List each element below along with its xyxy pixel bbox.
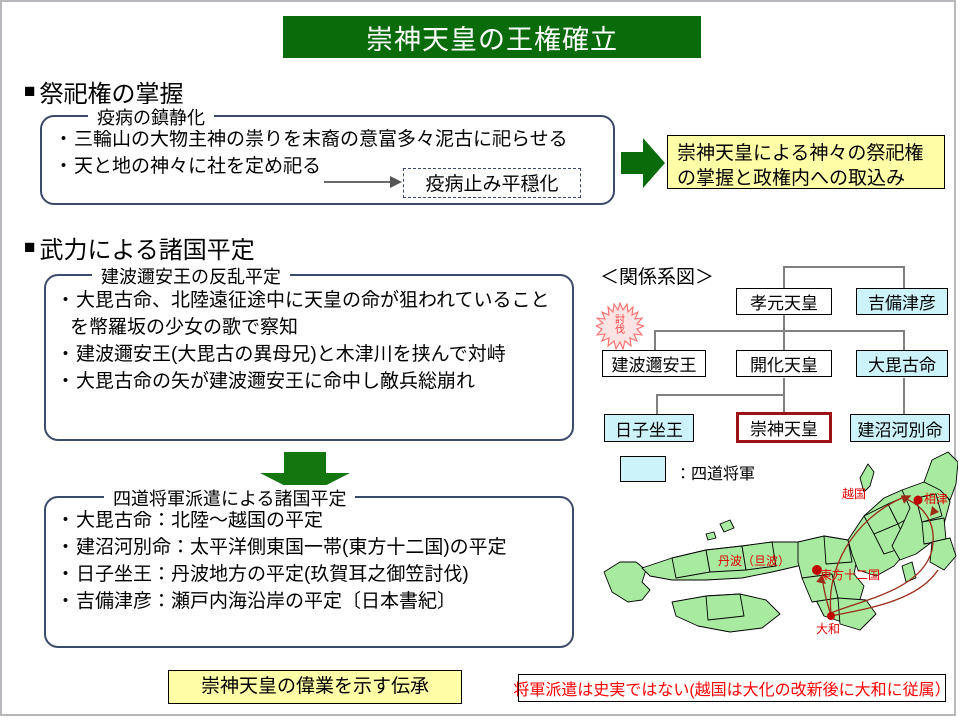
list-item: ・ 建沼河別命：太平洋側東国一帯(東方十二国)の平定: [56, 535, 572, 562]
epidemic-pacification-legend: 疫病の鎮静化: [88, 104, 214, 130]
bullet-dot-icon: ・: [56, 342, 75, 369]
page-title: 崇神天皇の王権確立: [283, 16, 701, 58]
section-2-heading: ■ 武力による諸国平定: [24, 230, 255, 265]
map-label-aizu: 相津: [924, 490, 948, 507]
rebellion-bullet-list: ・ 大毘古命、北陸遠征途中に天皇の命が狙われていること を幣羅坂の少女の歌で察知…: [46, 276, 572, 396]
genealogy-node-label: 開化天皇: [750, 351, 818, 376]
starburst-label-line-2: 伐: [615, 326, 625, 336]
slide-canvas: 崇神天皇の王権確立 ■ 祭祀権の掌握 疫病の鎮静化 ・ 三輪山の大物主神の祟りを…: [0, 0, 956, 716]
list-item: ・ 大毘古命の矢が建波邇安王に命中し敵兵総崩れ: [56, 369, 572, 396]
genealogy-title: ＜関係系図＞: [600, 262, 714, 289]
genealogy-node-label: 大毘古命: [868, 351, 936, 376]
four-generals-legend: 四道将軍派遣による諸国平定: [104, 485, 355, 511]
genealogy-connector: [783, 266, 905, 268]
map-historical-note-text: 将軍派遣は史実ではない(越国は大化の改新後に大和に従属）: [513, 676, 950, 700]
genealogy-connector: [903, 330, 905, 350]
bullet-dot-icon: ・: [56, 535, 75, 562]
genealogy-node-label: 崇神天皇: [750, 415, 818, 440]
list-item-text: 建沼河別命：太平洋側東国一帯(東方十二国)の平定: [76, 535, 507, 562]
section2-footer-callout-text: 崇神天皇の偉業を示す伝承: [201, 674, 429, 699]
list-item: ・ 建波邇安王(大毘古の異母兄)と木津川を挟んで対峙: [56, 342, 572, 369]
four-generals-box: 四道将軍派遣による諸国平定 ・ 大毘古命：北陸〜越国の平定 ・ 建沼河別命：太平…: [44, 496, 574, 648]
map-dot-yamato: [827, 612, 835, 620]
bullet-dot-icon: ・: [56, 589, 75, 616]
genealogy-node-sujin[interactable]: 崇神天皇: [736, 412, 832, 443]
section1-callout-line-1: 崇神天皇による神々の祭祀権: [677, 141, 935, 166]
bullet-square-icon: ■: [24, 238, 35, 257]
list-item: ・ 大毘古命、北陸遠征途中に天皇の命が狙われていること: [56, 288, 572, 315]
genealogy-connector: [656, 394, 785, 396]
section-2-heading-text: 武力による諸国平定: [39, 230, 254, 265]
rebellion-pacification-box: 建波邇安王の反乱平定 ・ 大毘古命、北陸遠征途中に天皇の命が狙われていること を…: [44, 274, 574, 441]
section1-callout-line-2: の掌握と政権内への取込み: [677, 166, 935, 191]
genealogy-node-obiko[interactable]: 大毘古命: [856, 350, 948, 377]
list-item-continuation: を幣羅坂の少女の歌で察知: [56, 315, 572, 342]
list-item-text: 天と地の神々に社を定め祀る: [74, 154, 321, 181]
conquest-starburst-icon: 討 伐: [596, 302, 644, 350]
bullet-dot-icon: ・: [56, 288, 75, 315]
flow-arrow-right-icon: [324, 172, 402, 192]
four-generals-bullet-list: ・ 大毘古命：北陸〜越国の平定 ・ 建沼河別命：太平洋側東国一帯(東方十二国)の…: [46, 498, 572, 616]
bullet-dot-icon: ・: [54, 127, 73, 154]
genealogy-node-label: 建波邇安王: [612, 351, 697, 376]
bullet-dot-icon: ・: [56, 369, 75, 396]
genealogy-connector: [903, 266, 905, 288]
page-title-text: 崇神天皇の王権確立: [366, 18, 618, 57]
genealogy-connector: [903, 378, 905, 414]
genealogy-node-kogen[interactable]: 孝元天皇: [736, 288, 832, 315]
map-label-yamato: 大和: [816, 620, 840, 637]
section2-footer-callout: 崇神天皇の偉業を示す伝承: [168, 670, 462, 704]
genealogy-chart: ＜関係系図＞ 孝元天皇 吉備津彦 建波邇安王 開化天皇 大毘古命: [598, 260, 956, 472]
genealogy-node-hikoimasu[interactable]: 日子坐王: [604, 414, 694, 442]
section1-callout-box: 崇神天皇による神々の祭祀権 の掌握と政権内への取込み: [667, 135, 945, 189]
list-item-text: 大毘古命：北陸〜越国の平定: [76, 508, 323, 535]
genealogy-connector: [654, 330, 656, 350]
list-item-text: 日子坐王：丹波地方の平定(玖賀耳之御笠討伐): [76, 562, 469, 589]
map-label-touhoujuunikoku: 東方十二国: [820, 566, 880, 583]
genealogy-connector: [783, 330, 785, 350]
list-item-text: 大毘古命、北陸遠征途中に天皇の命が狙われていること: [76, 288, 549, 315]
list-item-text: 三輪山の大物主神の祟りを末裔の意富多々泥古に祀らせる: [74, 127, 568, 154]
map-historical-note: 将軍派遣は史実ではない(越国は大化の改新後に大和に従属）: [518, 674, 946, 702]
genealogy-node-label: 日子坐王: [615, 416, 683, 441]
genealogy-connector: [656, 394, 658, 414]
map-dot-aizu: [914, 496, 923, 505]
epidemic-result-chip: 疫病止み平穏化: [403, 168, 581, 198]
genealogy-node-label: 建沼河別命: [858, 416, 943, 441]
genealogy-node-kibitsuhiko[interactable]: 吉備津彦: [856, 288, 948, 315]
genealogy-connector: [654, 330, 905, 332]
bullet-square-icon: ■: [24, 82, 35, 101]
list-item-text: 建波邇安王(大毘古の異母兄)と木津川を挟んで対峙: [76, 342, 506, 369]
epidemic-result-text: 疫病止み平穏化: [425, 169, 558, 196]
genealogy-node-label: 吉備津彦: [868, 289, 936, 314]
genealogy-node-takenumakawawake[interactable]: 建沼河別命: [850, 414, 950, 442]
genealogy-connector: [783, 266, 785, 288]
list-item-text: を幣羅坂の少女の歌で察知: [70, 315, 298, 342]
map-label-koshinokuni: 越国: [842, 485, 866, 502]
list-item: ・ 吉備津彦：瀬戸内海沿岸の平定〔日本書紀〕: [56, 589, 572, 616]
list-item: ・ 三輪山の大物主神の祟りを末裔の意富多々泥古に祀らせる: [54, 127, 613, 154]
rebellion-pacification-legend: 建波邇安王の反乱平定: [92, 263, 290, 289]
genealogy-node-kaika[interactable]: 開化天皇: [736, 350, 832, 377]
bullet-dot-icon: ・: [56, 562, 75, 589]
genealogy-node-takehaniyasu[interactable]: 建波邇安王: [602, 350, 706, 377]
japan-route-map: 越国 相津 丹波（旦波） 東方十二国 大和: [602, 450, 958, 682]
list-item: ・ 日子坐王：丹波地方の平定(玖賀耳之御笠討伐): [56, 562, 572, 589]
section1-green-arrow-icon: [621, 136, 665, 190]
list-item-text: 大毘古命の矢が建波邇安王に命中し敵兵総崩れ: [76, 369, 475, 396]
bullet-dot-icon: ・: [54, 154, 73, 181]
list-item: ・ 大毘古命：北陸〜越国の平定: [56, 508, 572, 535]
map-label-tanba: 丹波（旦波）: [718, 552, 790, 569]
bullet-dot-icon: ・: [56, 508, 75, 535]
list-item-text: 吉備津彦：瀬戸内海沿岸の平定〔日本書紀〕: [76, 589, 456, 616]
genealogy-node-label: 孝元天皇: [750, 289, 818, 314]
